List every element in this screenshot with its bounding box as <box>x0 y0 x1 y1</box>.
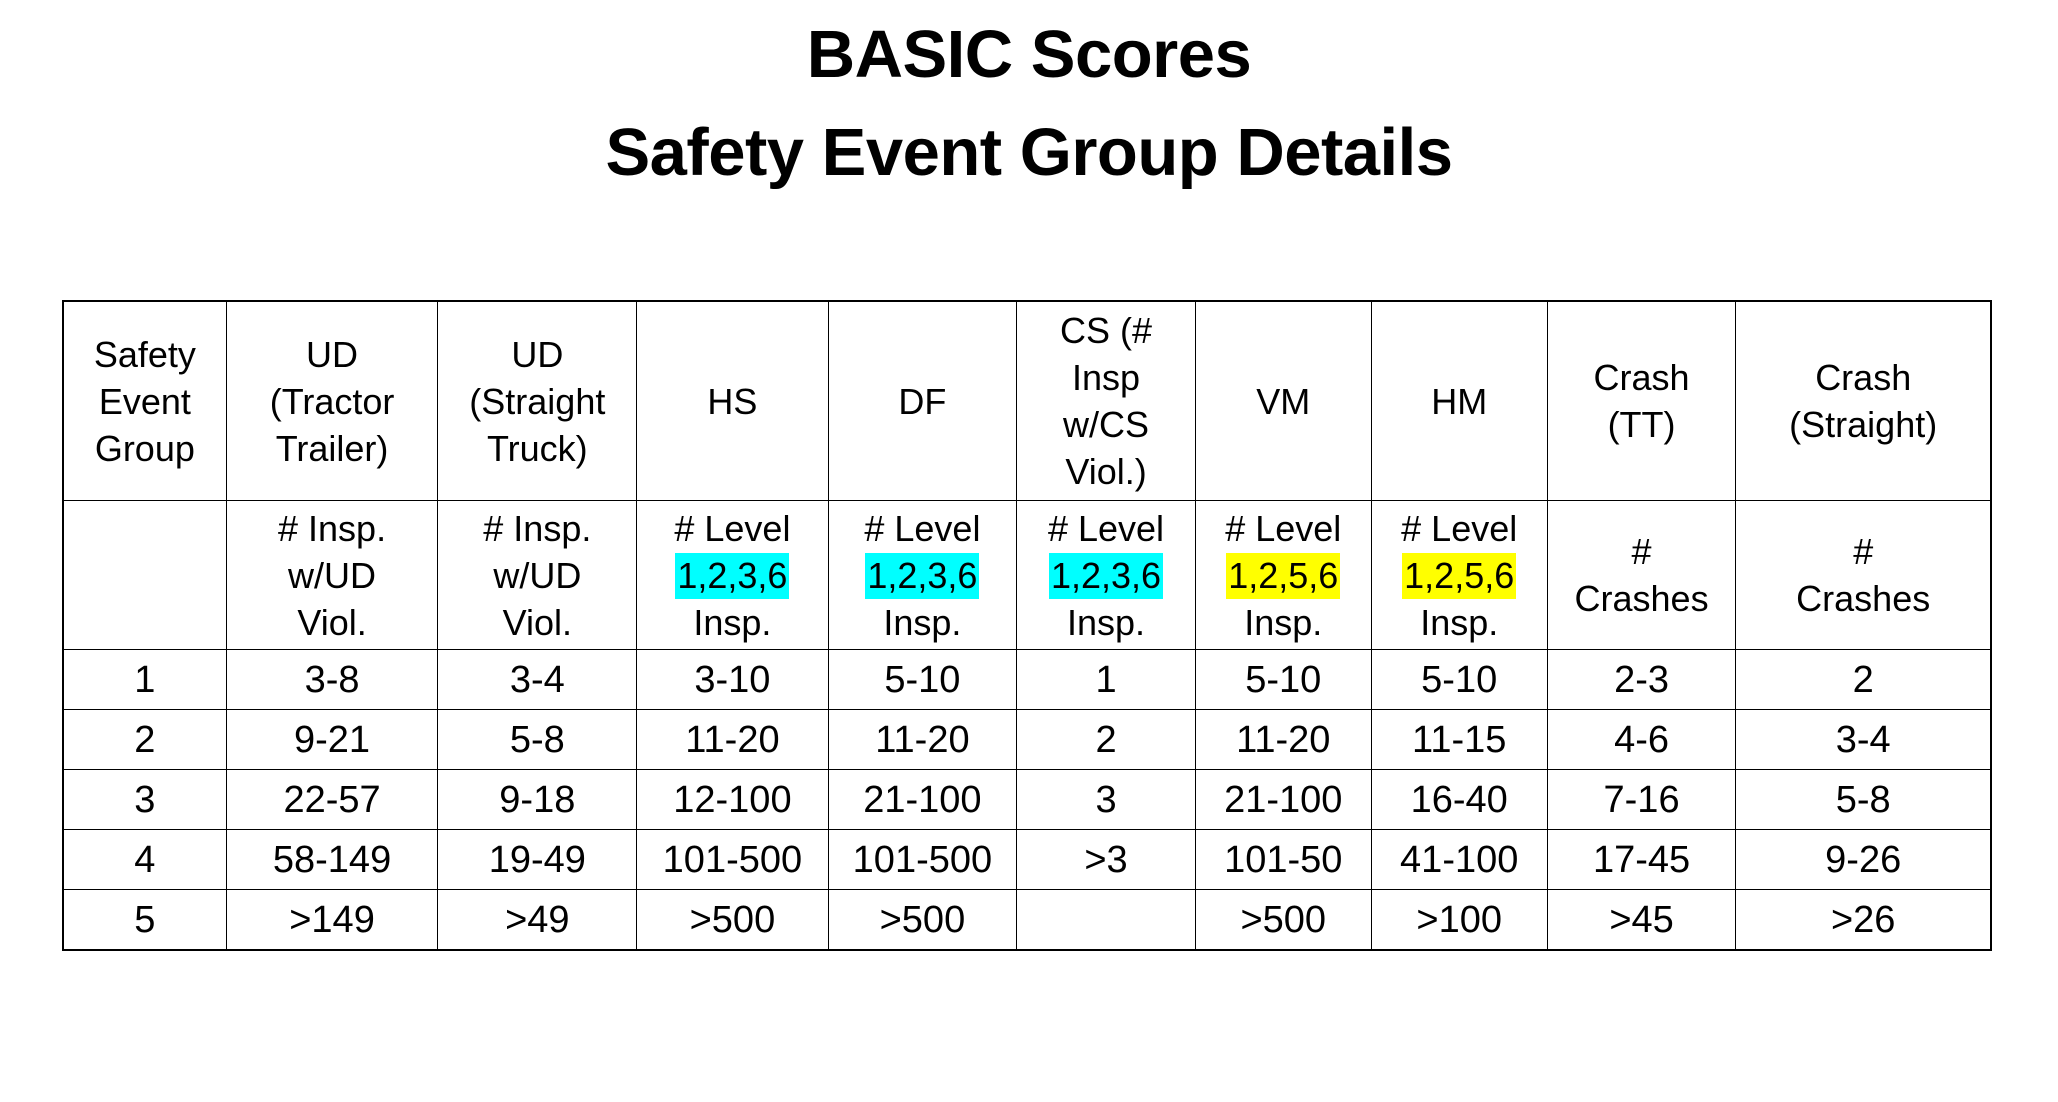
header-row-primary-cell-6: VM <box>1195 301 1371 501</box>
header-row-secondary-cell-4: # Level1,2,3,6Insp. <box>828 501 1017 650</box>
data-cell-r4-c2: 19-49 <box>438 830 637 890</box>
cell-line: Crash <box>1738 354 1988 401</box>
header-row-primary-cell-7: HM <box>1371 301 1547 501</box>
header-row-secondary-cell-8: #Crashes <box>1547 501 1736 650</box>
header-row-primary-cell-4: DF <box>828 301 1017 501</box>
cell-line: w/UD <box>440 552 634 599</box>
data-cell-r2-c7: 11-15 <box>1371 710 1547 770</box>
data-cell-r1-c1: 3-8 <box>226 650 438 710</box>
cell-line: Viol. <box>229 599 436 646</box>
data-cell-r2-c4: 11-20 <box>828 710 1017 770</box>
cell-line: # Level <box>1374 505 1545 552</box>
data-cell-r1-c5: 1 <box>1017 650 1196 710</box>
data-cell-r5-c7: >100 <box>1371 890 1547 951</box>
data-cell-r3-c2: 9-18 <box>438 770 637 830</box>
cell-line: w/UD <box>229 552 436 599</box>
cell-line: Viol.) <box>1019 448 1193 495</box>
cell-line: HM <box>1374 378 1545 425</box>
header-row-secondary-cell-6: # Level1,2,5,6Insp. <box>1195 501 1371 650</box>
cell-line: DF <box>831 378 1015 425</box>
cell-line: Safety <box>66 331 224 378</box>
cell-line: (Straight) <box>1738 401 1988 448</box>
data-cell-r1-c3: 3-10 <box>637 650 828 710</box>
data-cell-r2-c8: 4-6 <box>1547 710 1736 770</box>
highlighted-level-text: 1,2,3,6 <box>675 553 789 599</box>
header-row-secondary-cell-0 <box>63 501 226 650</box>
data-cell-r1-c8: 2-3 <box>1547 650 1736 710</box>
cell-line: UD <box>229 331 436 378</box>
data-cell-r1-c9: 2 <box>1736 650 1991 710</box>
safety-event-group-value: 5 <box>63 890 226 951</box>
header-row-primary-cell-2: UD(StraightTruck) <box>438 301 637 501</box>
table-row: 458-14919-49101-500101-500>3101-5041-100… <box>63 830 1991 890</box>
cell-line: Insp <box>1019 354 1193 401</box>
data-cell-r1-c7: 5-10 <box>1371 650 1547 710</box>
highlighted-level-text: 1,2,5,6 <box>1402 553 1516 599</box>
data-cell-r5-c5 <box>1017 890 1196 951</box>
cell-line: Crashes <box>1738 575 1988 622</box>
data-cell-r4-c1: 58-149 <box>226 830 438 890</box>
table-row: 322-579-1812-10021-100321-10016-407-165-… <box>63 770 1991 830</box>
data-cell-r4-c3: 101-500 <box>637 830 828 890</box>
header-row-secondary-cell-7: # Level1,2,5,6Insp. <box>1371 501 1547 650</box>
cell-line: Crashes <box>1550 575 1734 622</box>
cell-line: 1,2,5,6 <box>1374 552 1545 599</box>
safety-event-group-value: 2 <box>63 710 226 770</box>
header-row-primary-cell-5: CS (#Inspw/CSViol.) <box>1017 301 1196 501</box>
data-cell-r3-c5: 3 <box>1017 770 1196 830</box>
data-cell-r5-c8: >45 <box>1547 890 1736 951</box>
safety-event-group-value: 1 <box>63 650 226 710</box>
data-cell-r3-c1: 22-57 <box>226 770 438 830</box>
cell-line: w/CS <box>1019 401 1193 448</box>
safety-event-group-table-wrapper: SafetyEventGroupUD(TractorTrailer)UD(Str… <box>62 300 1992 951</box>
cell-line: Insp. <box>1019 599 1193 646</box>
title-line-1: BASIC Scores <box>0 6 2058 104</box>
data-cell-r5-c1: >149 <box>226 890 438 951</box>
data-cell-r4-c4: 101-500 <box>828 830 1017 890</box>
cell-line: # Insp. <box>440 505 634 552</box>
cell-line: 1,2,3,6 <box>831 552 1015 599</box>
data-cell-r4-c7: 41-100 <box>1371 830 1547 890</box>
cell-line: # Level <box>639 505 825 552</box>
data-cell-r1-c2: 3-4 <box>438 650 637 710</box>
highlighted-level-text: 1,2,3,6 <box>1049 553 1163 599</box>
table-row: 29-215-811-2011-20211-2011-154-63-4 <box>63 710 1991 770</box>
header-row-secondary-cell-5: # Level1,2,3,6Insp. <box>1017 501 1196 650</box>
data-cell-r2-c1: 9-21 <box>226 710 438 770</box>
cell-line: Viol. <box>440 599 634 646</box>
cell-line: Insp. <box>639 599 825 646</box>
data-cell-r5-c6: >500 <box>1195 890 1371 951</box>
cell-line: Insp. <box>1374 599 1545 646</box>
cell-line: Crash <box>1550 354 1734 401</box>
data-cell-r5-c9: >26 <box>1736 890 1991 951</box>
cell-line: Truck) <box>440 425 634 472</box>
table-row: 13-83-43-105-1015-105-102-32 <box>63 650 1991 710</box>
cell-line: # <box>1738 528 1988 575</box>
cell-line: # Level <box>1198 505 1369 552</box>
cell-line: 1,2,3,6 <box>639 552 825 599</box>
header-row-secondary-cell-1: # Insp.w/UDViol. <box>226 501 438 650</box>
data-cell-r5-c2: >49 <box>438 890 637 951</box>
data-cell-r3-c4: 21-100 <box>828 770 1017 830</box>
cell-line: 1,2,3,6 <box>1019 552 1193 599</box>
header-row-secondary-cell-9: #Crashes <box>1736 501 1991 650</box>
cell-line: # Level <box>1019 505 1193 552</box>
data-cell-r5-c3: >500 <box>637 890 828 951</box>
cell-line: UD <box>440 331 634 378</box>
cell-line: HS <box>639 378 825 425</box>
data-cell-r4-c9: 9-26 <box>1736 830 1991 890</box>
cell-line: # Level <box>831 505 1015 552</box>
cell-line: (Straight <box>440 378 634 425</box>
cell-line: # <box>1550 528 1734 575</box>
data-cell-r2-c5: 2 <box>1017 710 1196 770</box>
header-row-primary-cell-3: HS <box>637 301 828 501</box>
header-row-secondary: # Insp.w/UDViol.# Insp.w/UDViol.# Level1… <box>63 501 1991 650</box>
highlighted-level-text: 1,2,3,6 <box>865 553 979 599</box>
header-row-secondary-cell-2: # Insp.w/UDViol. <box>438 501 637 650</box>
safety-event-group-value: 4 <box>63 830 226 890</box>
slide-page: BASIC Scores Safety Event Group Details … <box>0 0 2058 1102</box>
data-cell-r3-c9: 5-8 <box>1736 770 1991 830</box>
data-cell-r4-c8: 17-45 <box>1547 830 1736 890</box>
cell-line: 1,2,5,6 <box>1198 552 1369 599</box>
header-row-primary-cell-1: UD(TractorTrailer) <box>226 301 438 501</box>
header-row-primary-cell-0: SafetyEventGroup <box>63 301 226 501</box>
data-cell-r1-c6: 5-10 <box>1195 650 1371 710</box>
data-cell-r3-c6: 21-100 <box>1195 770 1371 830</box>
data-cell-r1-c4: 5-10 <box>828 650 1017 710</box>
table-body: SafetyEventGroupUD(TractorTrailer)UD(Str… <box>63 301 1991 950</box>
cell-line: VM <box>1198 378 1369 425</box>
data-cell-r3-c3: 12-100 <box>637 770 828 830</box>
data-cell-r4-c6: 101-50 <box>1195 830 1371 890</box>
cell-line: Trailer) <box>229 425 436 472</box>
safety-event-group-table: SafetyEventGroupUD(TractorTrailer)UD(Str… <box>62 300 1992 951</box>
table-row: 5>149>49>500>500>500>100>45>26 <box>63 890 1991 951</box>
page-title: BASIC Scores Safety Event Group Details <box>0 6 2058 202</box>
data-cell-r2-c3: 11-20 <box>637 710 828 770</box>
safety-event-group-value: 3 <box>63 770 226 830</box>
cell-line: (TT) <box>1550 401 1734 448</box>
cell-line: CS (# <box>1019 307 1193 354</box>
data-cell-r2-c2: 5-8 <box>438 710 637 770</box>
cell-line: (Tractor <box>229 378 436 425</box>
highlighted-level-text: 1,2,5,6 <box>1226 553 1340 599</box>
data-cell-r5-c4: >500 <box>828 890 1017 951</box>
cell-line: Event <box>66 378 224 425</box>
data-cell-r2-c9: 3-4 <box>1736 710 1991 770</box>
header-row-primary-cell-9: Crash(Straight) <box>1736 301 1991 501</box>
header-row-primary-cell-8: Crash(TT) <box>1547 301 1736 501</box>
header-row-secondary-cell-3: # Level1,2,3,6Insp. <box>637 501 828 650</box>
header-row-primary: SafetyEventGroupUD(TractorTrailer)UD(Str… <box>63 301 1991 501</box>
cell-line: # Insp. <box>229 505 436 552</box>
data-cell-r3-c8: 7-16 <box>1547 770 1736 830</box>
cell-line: Insp. <box>1198 599 1369 646</box>
title-line-2: Safety Event Group Details <box>0 104 2058 202</box>
data-cell-r3-c7: 16-40 <box>1371 770 1547 830</box>
data-cell-r2-c6: 11-20 <box>1195 710 1371 770</box>
data-cell-r4-c5: >3 <box>1017 830 1196 890</box>
cell-line: Insp. <box>831 599 1015 646</box>
cell-line: Group <box>66 425 224 472</box>
